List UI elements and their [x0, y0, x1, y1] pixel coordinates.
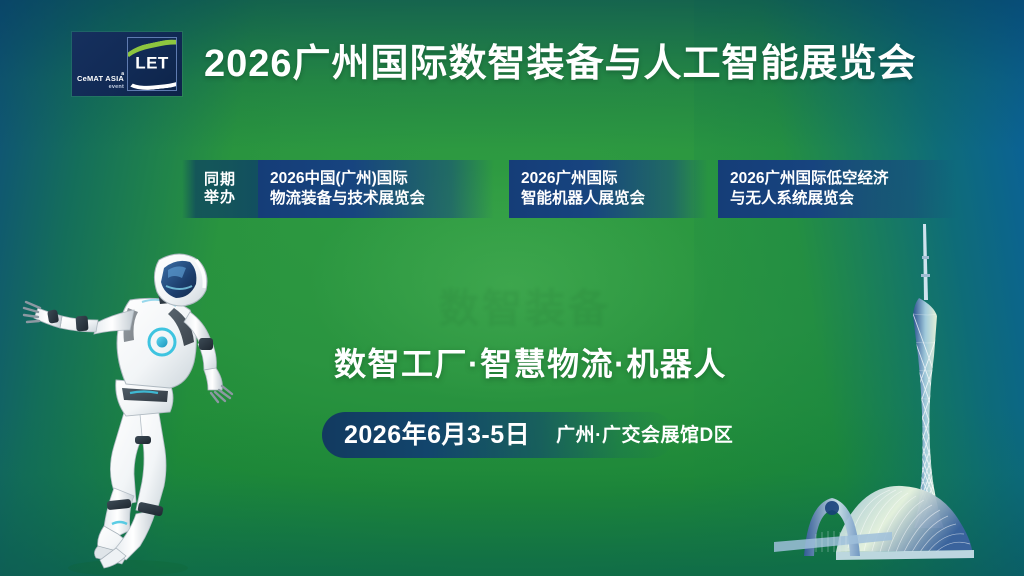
concurrent-label-line2: 举办: [204, 189, 236, 207]
concurrent-event-3[interactable]: 2026广州国际低空经济 与无人系统展览会: [718, 160, 957, 218]
background-watermark: 数智装备: [400, 272, 650, 338]
concurrent-event-3-line1: 2026广州国际低空经济: [730, 169, 945, 189]
tower-antenna: [921, 224, 930, 300]
event-date: 2026年6月3-5日: [344, 423, 530, 448]
concurrent-event-2-line1: 2026广州国际: [521, 169, 696, 189]
concurrent-label-line1: 同期: [204, 171, 236, 189]
event-venue: 广州·广交会展馆D区: [556, 426, 733, 445]
concurrent-label: 同期 举办: [182, 160, 258, 218]
exhibition-banner: 数智装备 a CeMAT ASIA event LET 2026广州国际数智装备…: [0, 0, 1024, 576]
logo-superscript: a: [121, 72, 124, 77]
tagline: 数智工厂·智慧物流·机器人: [334, 348, 727, 380]
robot-shadow: [68, 560, 188, 576]
concurrent-event-1-line2: 物流装备与技术展览会: [270, 189, 482, 209]
logo-let-badge: LET: [127, 37, 177, 91]
concurrent-event-1-line1: 2026中国(广州)国际: [270, 169, 482, 189]
logo-wordmark: a CeMAT ASIA event: [72, 32, 127, 96]
concurrent-event-1[interactable]: 2026中国(广州)国际 物流装备与技术展览会: [258, 160, 494, 218]
concurrent-events-row: 同期 举办 2026中国(广州)国际 物流装备与技术展览会 2026广州国际 智…: [182, 160, 957, 218]
robot-head: [154, 254, 207, 306]
page-title: 2026广州国际数智装备与人工智能展览会: [204, 45, 917, 83]
robot-left-arm: [24, 302, 134, 334]
canton-tower-illustration: [774, 216, 1024, 576]
date-venue-pill: 2026年6月3-5日 广州·广交会展馆D区: [322, 412, 674, 458]
logo-let-text: LET: [128, 54, 176, 74]
cemat-let-logo: a CeMAT ASIA event LET: [72, 32, 182, 96]
logo-sub-text: event: [109, 85, 124, 91]
concurrent-event-2-line2: 智能机器人展览会: [521, 189, 696, 209]
concurrent-event-3-line2: 与无人系统展览会: [730, 189, 945, 209]
banner-header: a CeMAT ASIA event LET 2026广州国际数智装备与人工智能…: [0, 26, 1024, 102]
concurrent-event-2[interactable]: 2026广州国际 智能机器人展览会: [509, 160, 708, 218]
logo-brand-text: CeMAT ASIA: [77, 75, 124, 83]
humanoid-robot-illustration: [18, 238, 288, 576]
